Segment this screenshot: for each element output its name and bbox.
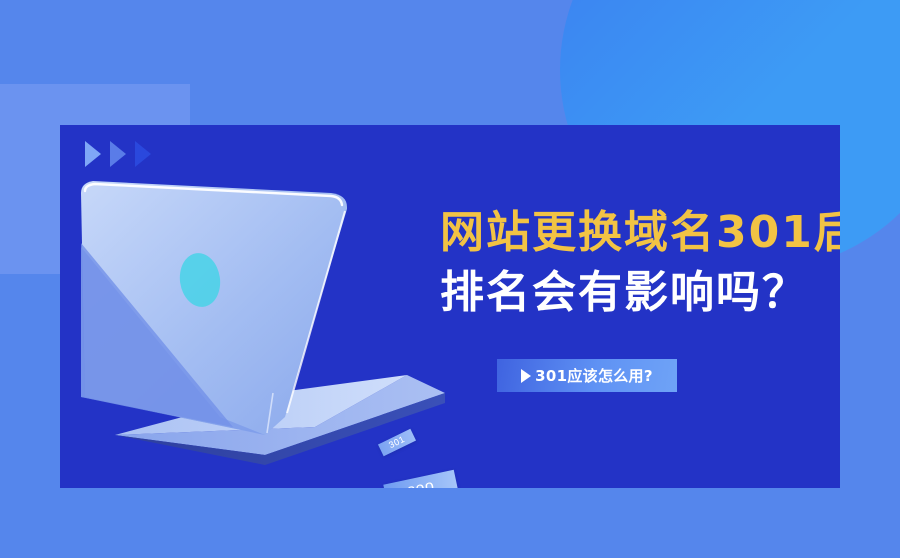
headline-group: 网站更换域名301后 排名会有影响吗？	[440, 210, 840, 316]
banner-canvas: 301 seo 域名 网站更换域名301后 排名会有影响吗？ 301应该怎么用?	[0, 0, 900, 558]
headline-line-1: 网站更换域名301后	[440, 210, 840, 256]
laptop-illustration	[60, 135, 445, 485]
background-strip-bottom	[0, 488, 900, 558]
play-triangle-icon	[521, 369, 531, 383]
content-panel: 301 seo 域名 网站更换域名301后 排名会有影响吗？ 301应该怎么用?	[60, 125, 840, 488]
cta-button-label: 301应该怎么用?	[535, 365, 653, 386]
cta-button[interactable]: 301应该怎么用?	[497, 359, 677, 392]
headline-line-2: 排名会有影响吗？	[440, 270, 840, 316]
